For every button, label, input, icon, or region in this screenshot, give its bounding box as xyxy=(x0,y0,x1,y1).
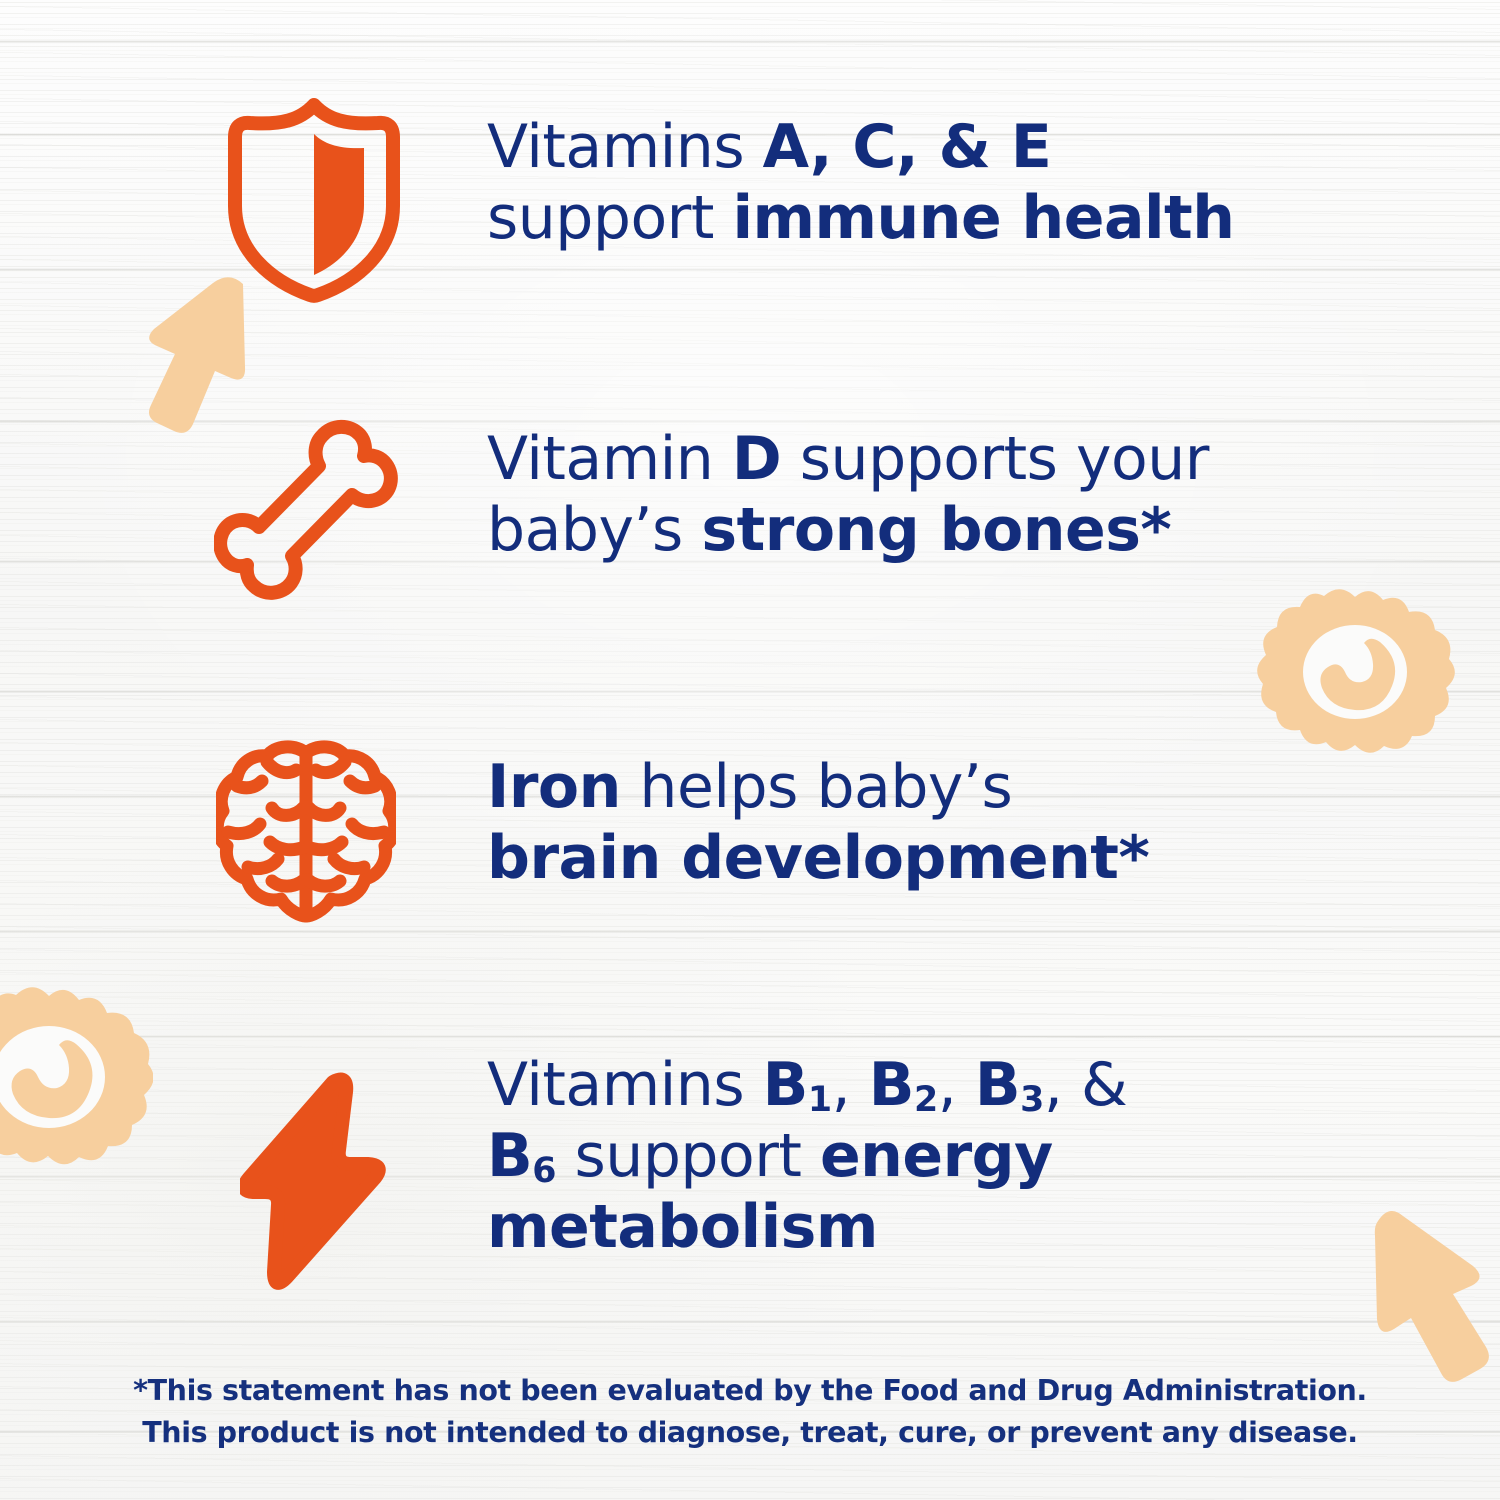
benefit-4-b6-subscript: 6 xyxy=(532,1151,556,1191)
benefit-text-2: Vitamin D supports your baby’s strong bo… xyxy=(487,424,1357,566)
benefit-1-line2-bold: immune health xyxy=(732,183,1234,253)
benefit-4-line2-regular: support xyxy=(556,1121,820,1191)
benefit-text-3: Iron helps baby’s brain development* xyxy=(487,752,1287,894)
benefit-4-b6: B xyxy=(487,1121,532,1191)
benefit-4-b2-subscript: 2 xyxy=(914,1080,938,1120)
benefit-2-line1-tail: supports your xyxy=(781,424,1209,494)
disclaimer-line-1: *This statement has not been evaluated b… xyxy=(0,1370,1500,1412)
benefit-2-line2-regular: baby’s xyxy=(487,495,701,565)
benefit-rows: Vitamins A, C, & E support immune health… xyxy=(0,0,1500,1500)
brain-icon xyxy=(216,740,396,930)
benefit-4-b3-subscript: 3 xyxy=(1020,1080,1044,1120)
benefit-3-line2-bold: brain development* xyxy=(487,823,1149,893)
benefit-text-1: Vitamins A, C, & E support immune health xyxy=(487,112,1327,254)
benefit-3-line1-bold: Iron xyxy=(487,752,621,822)
benefit-4-line3-bold: metabolism xyxy=(487,1192,878,1262)
benefit-4-b3: B xyxy=(975,1050,1020,1120)
benefit-1-line2-regular: support xyxy=(487,183,732,253)
benefit-4-line2-bold: energy xyxy=(820,1121,1053,1191)
lightning-bolt-icon xyxy=(240,1072,386,1290)
benefit-4-b2: B xyxy=(869,1050,914,1120)
benefit-2-line1-bold: D xyxy=(732,424,781,494)
benefit-4-b1: B xyxy=(763,1050,808,1120)
benefit-4-line1-regular: Vitamins xyxy=(487,1050,763,1120)
benefit-4-line1-tail: , & xyxy=(1044,1050,1127,1120)
disclaimer-line-2: This product is not intended to diagnose… xyxy=(0,1412,1500,1454)
fda-disclaimer: *This statement has not been evaluated b… xyxy=(0,1370,1500,1454)
benefit-2-line1-regular: Vitamin xyxy=(487,424,732,494)
benefit-2-line2-bold: strong bones* xyxy=(701,495,1171,565)
benefit-4-sep1: , xyxy=(832,1050,869,1120)
benefit-1-line1-regular: Vitamins xyxy=(487,112,763,182)
bone-icon xyxy=(214,414,406,604)
benefit-4-sep2: , xyxy=(938,1050,975,1120)
benefit-1-line1-bold: A, C, & E xyxy=(763,112,1052,182)
benefit-text-4: Vitamins B1, B2, B3, & B6 support energy… xyxy=(487,1050,1247,1262)
benefit-3-line1-regular: helps baby’s xyxy=(621,752,1012,822)
benefit-4-b1-subscript: 1 xyxy=(808,1080,832,1120)
product-benefits-infographic: Vitamins A, C, & E support immune health… xyxy=(0,0,1500,1500)
shield-icon xyxy=(228,98,400,303)
